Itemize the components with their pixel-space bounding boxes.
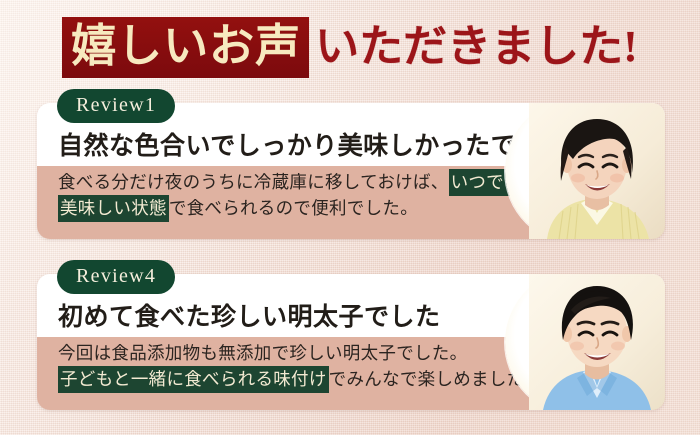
review-card: 初めて食べた珍しい明太子でした 今回は食品添加物も無添加で珍しい明太子でした。 …	[37, 274, 665, 410]
review-text-plain: で食べられるので便利でした。	[169, 198, 418, 218]
page-title: 嬉しいお声 いただきました!	[0, 14, 700, 80]
title-tail-text: いただきました!	[315, 25, 638, 69]
review-text-highlight: 美味しい状態	[58, 195, 169, 222]
review-card-body: 今回は食品添加物も無添加で珍しい明太子でした。 子どもと一緒に食べられる味付けで…	[37, 337, 665, 410]
review-text-highlight: いつでも	[449, 169, 524, 196]
review-body-line: 食べる分だけ夜のうちに冷蔵庫に移しておけば、いつでも	[58, 174, 665, 192]
review-card: 自然な色合いでしっかり美味しかったです! 食べる分だけ夜のうちに冷蔵庫に移してお…	[37, 103, 665, 239]
review-headline: 初めて食べた珍しい明太子でした	[37, 305, 441, 337]
promo-banner: 嬉しいお声 いただきました! 自然な色合いでしっかり美味しかったです! 食べる分…	[0, 0, 700, 435]
review-text-highlight: 子どもと一緒に食べられる味付け	[58, 366, 329, 393]
review-body-line: 美味しい状態で食べられるので便利でした。	[58, 200, 665, 218]
review-badge: Review4	[57, 260, 175, 294]
title-highlight-box: 嬉しいお声	[62, 17, 309, 78]
review-headline: 自然な色合いでしっかり美味しかったです!	[37, 134, 551, 166]
review-body-line: 子どもと一緒に食べられる味付けでみんなで楽しめました。	[58, 371, 665, 389]
review-badge: Review1	[57, 89, 175, 123]
review-text-plain: でみんなで楽しめました。	[329, 369, 543, 389]
review-text-plain: 今回は食品添加物も無添加で珍しい明太子でした。	[58, 343, 467, 363]
review-card-body: 食べる分だけ夜のうちに冷蔵庫に移しておけば、いつでも 美味しい状態で食べられるの…	[37, 166, 665, 239]
review-body-line: 今回は食品添加物も無添加で珍しい明太子でした。	[58, 345, 665, 363]
review-text-plain: 食べる分だけ夜のうちに冷蔵庫に移しておけば、	[58, 172, 449, 192]
